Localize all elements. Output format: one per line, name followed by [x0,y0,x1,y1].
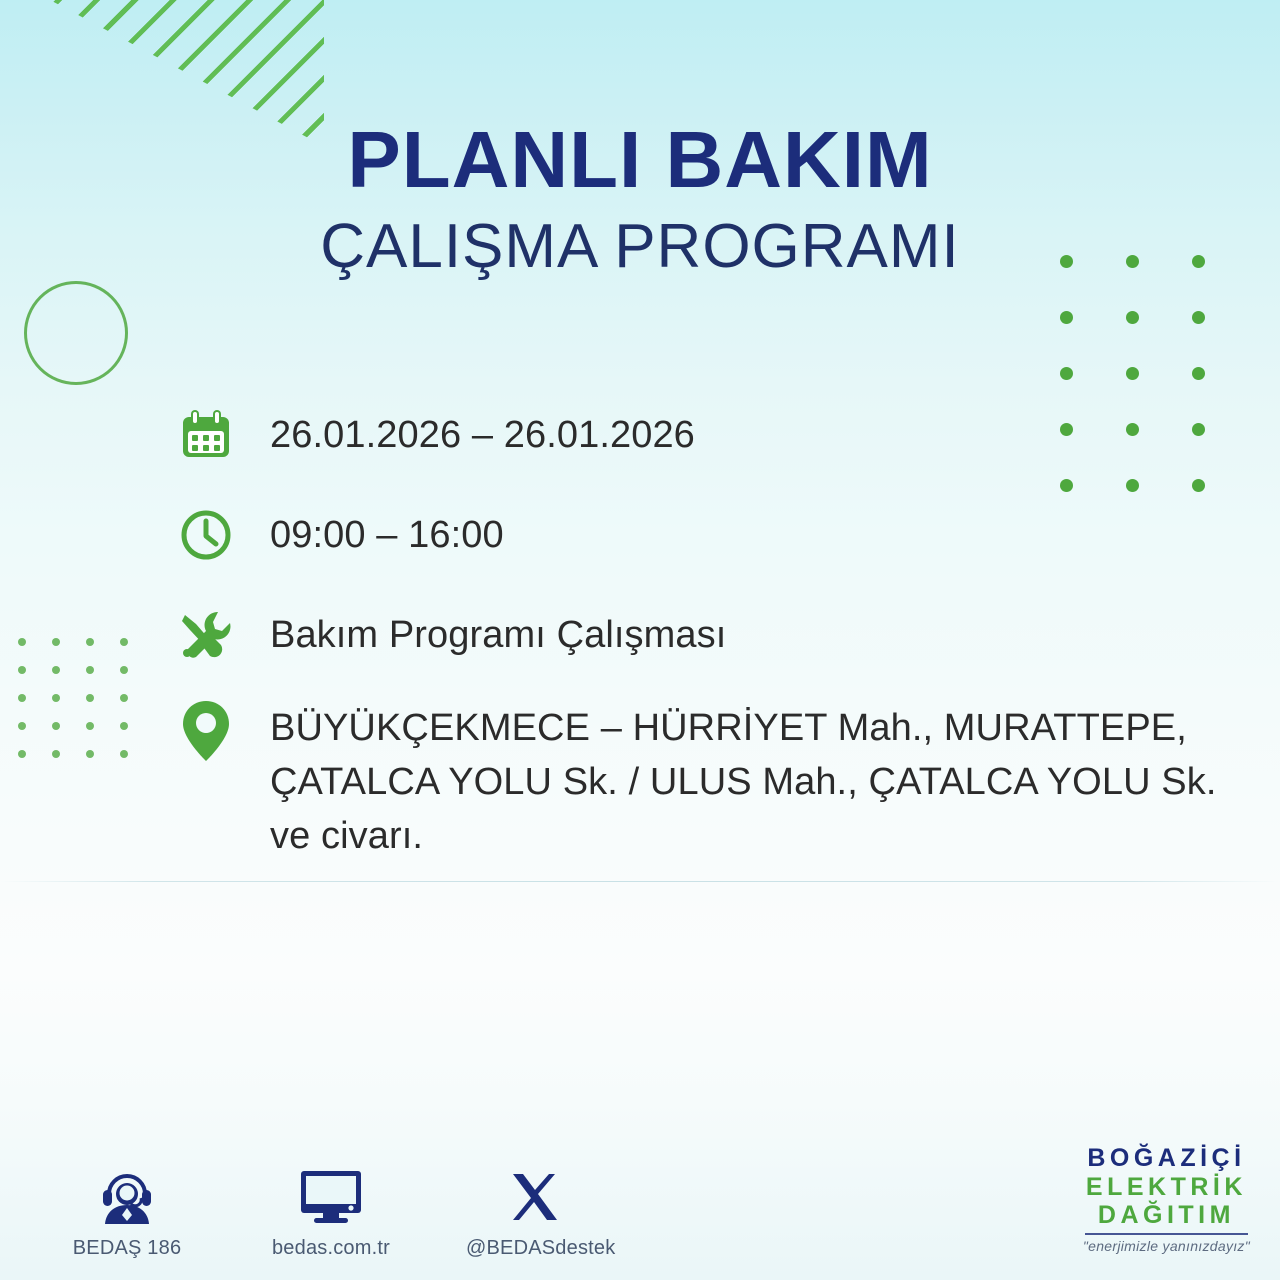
x-twitter-icon [466,1164,604,1226]
dot-grid-left-decoration [18,638,154,778]
logo-tagline: "enerjimizle yanınızdayız" [1083,1238,1250,1254]
clock-icon [175,504,237,566]
maintenance-details: 26.01.2026 – 26.01.2026 09:00 – 16:00 [175,404,1265,864]
detail-row-location: BÜYÜKÇEKMECE – HÜRRİYET Mah., MURATTEPE,… [175,700,1265,864]
contact-phone[interactable]: BEDAŞ 186 [58,1164,196,1260]
logo-line-elektrik: ELEKTRİK [1083,1173,1250,1201]
poster-header: PLANLI BAKIM ÇALIŞMA PROGRAMI [0,120,1280,278]
logo-underline [1085,1233,1248,1235]
footer-contact-bar: BEDAŞ 186 bedas.com.tr @BEDASdestek [58,1164,604,1260]
logo-line-bogazici: BOĞAZİÇİ [1083,1144,1250,1172]
page-subtitle: ÇALIŞMA PROGRAMI [0,216,1280,278]
work-type-value: Bakım Programı Çalışması [237,604,726,663]
tools-icon [175,604,237,666]
planned-maintenance-poster: PLANLI BAKIM ÇALIŞMA PROGRAMI [0,0,1280,1280]
contact-phone-label: BEDAŞ 186 [58,1237,196,1260]
section-divider [0,881,1280,882]
contact-website[interactable]: bedas.com.tr [262,1164,400,1260]
location-pin-icon [175,700,237,762]
page-title: PLANLI BAKIM [0,120,1280,200]
detail-row-date: 26.01.2026 – 26.01.2026 [175,404,1265,466]
contact-website-label: bedas.com.tr [262,1237,400,1260]
detail-row-time: 09:00 – 16:00 [175,504,1265,566]
detail-row-work-type: Bakım Programı Çalışması [175,604,1265,666]
location-value: BÜYÜKÇEKMECE – HÜRRİYET Mah., MURATTEPE,… [237,700,1265,864]
company-logo: BOĞAZİÇİ ELEKTRİK DAĞITIM "enerjimizle y… [1083,1144,1250,1254]
headset-support-icon [58,1164,196,1226]
time-range-value: 09:00 – 16:00 [237,504,504,563]
contact-social-label: @BEDASdestek [466,1237,604,1260]
calendar-icon [175,404,237,466]
date-range-value: 26.01.2026 – 26.01.2026 [237,404,695,463]
logo-line-dagitim: DAĞITIM [1083,1201,1250,1229]
circle-outline-decoration [24,281,128,385]
monitor-icon [262,1164,400,1226]
contact-social[interactable]: @BEDASdestek [466,1164,604,1260]
